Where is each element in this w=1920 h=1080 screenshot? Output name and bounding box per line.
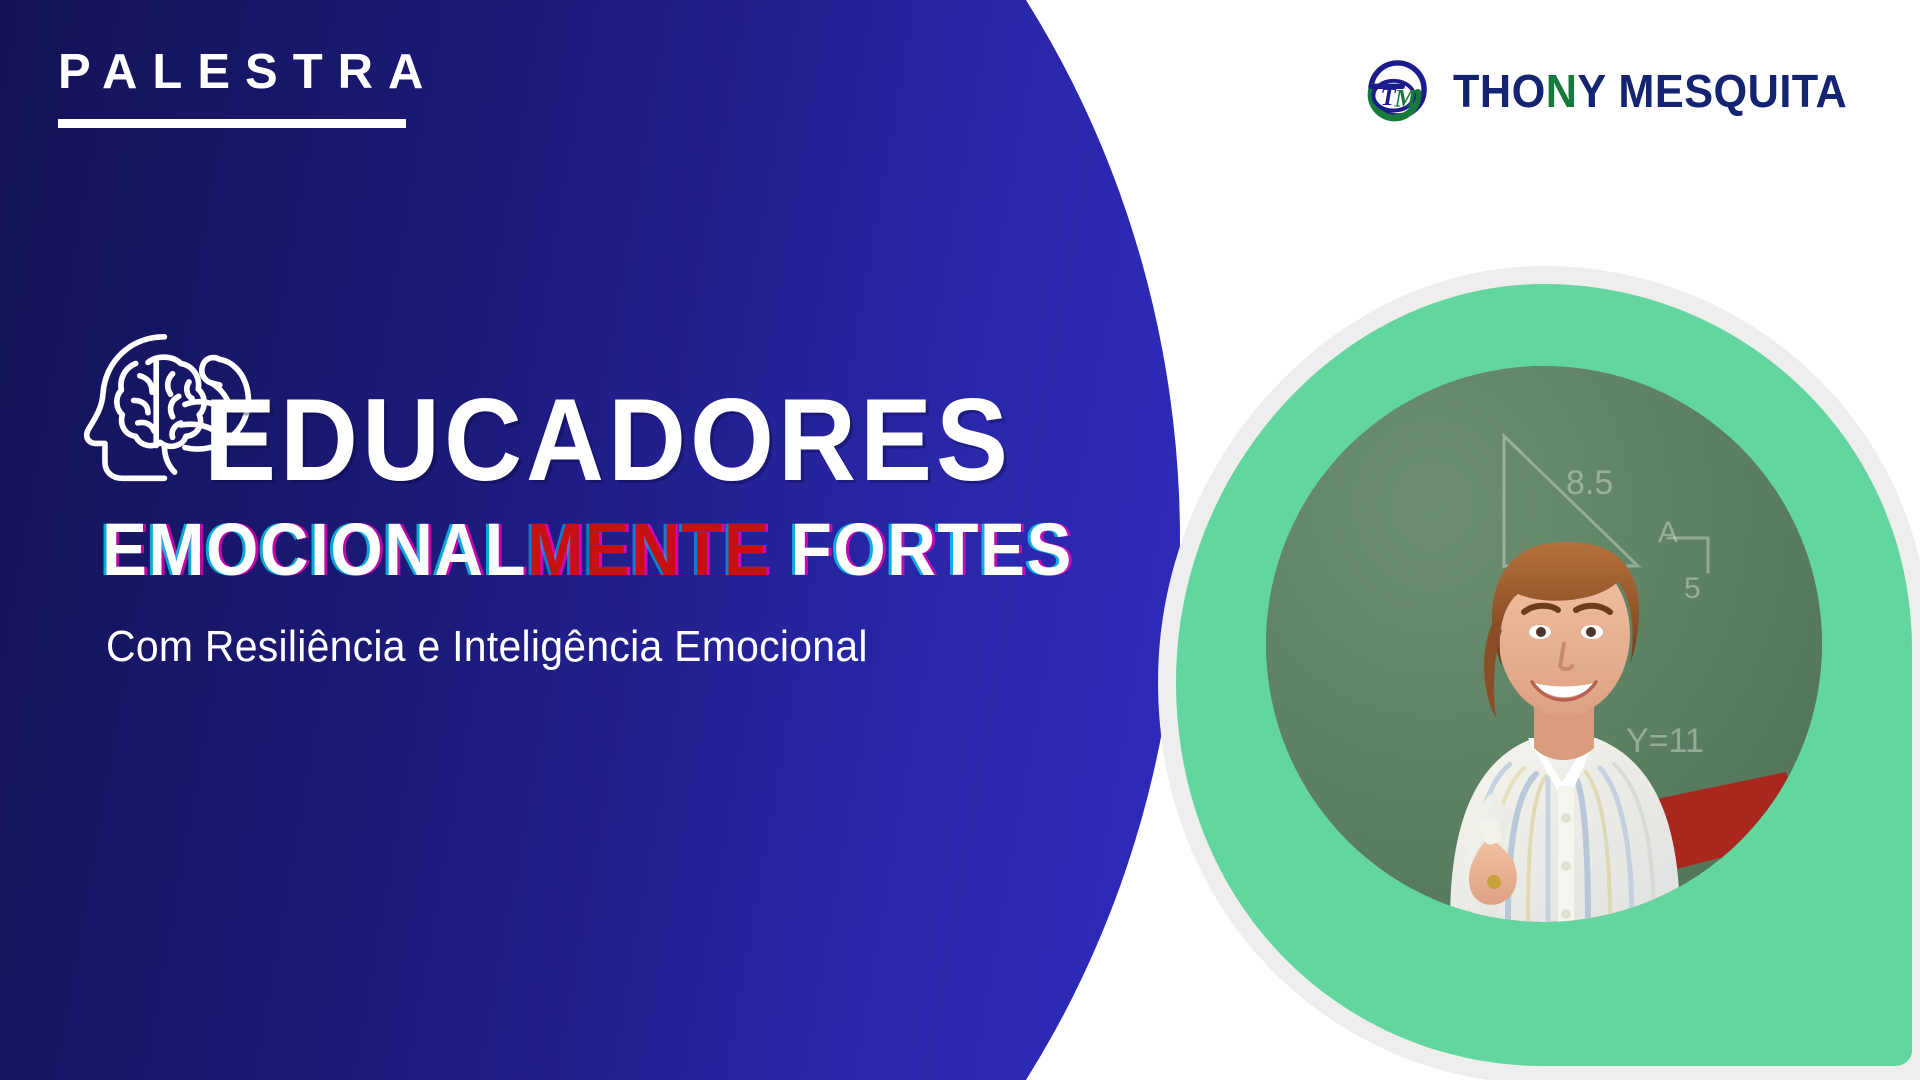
kicker-underline [58,119,406,128]
svg-text:Y=11: Y=11 [1626,722,1704,760]
svg-text:A: A [1658,516,1678,549]
kicker-block: PALESTRA [58,48,458,128]
svg-text:M: M [1393,86,1417,113]
brand-logo[interactable]: T M THONY MESQUITA [1357,52,1872,130]
headline-secondary-part3: FORTES [770,508,1072,591]
svg-text:8.5: 8.5 [1566,464,1613,502]
headline-secondary: EMOCIONALMENTE FORTES [102,512,975,586]
brand-name-suffix: Y MESQUITA [1577,65,1847,117]
svg-text:5: 5 [1684,572,1701,605]
portrait-illustration: 8.5 A 5 6 Y=11 =4 Y= [1266,366,1822,922]
portrait-photo: 8.5 A 5 6 Y=11 =4 Y= [1266,366,1822,922]
headline-block: EDUCADORES EMOCIONALMENTE FORTES Com Res… [58,380,958,672]
brand-name-accent: N [1545,65,1577,117]
headline-secondary-part1: EMOCIONAL [102,508,527,591]
kicker-label: PALESTRA [58,48,458,97]
title-row: EDUCADORES [58,380,958,496]
tm-monogram-icon: T M [1357,52,1435,130]
headline-secondary-accent: MENTE [527,508,770,591]
brand-name: THONY MESQUITA [1453,68,1847,114]
headline-primary: EDUCADORES [204,384,1012,496]
headline-tagline: Com Resiliência e Inteligência Emocional [106,622,898,672]
brand-name-prefix: THO [1453,65,1546,117]
portrait-group: 8.5 A 5 6 Y=11 =4 Y= [1140,258,1920,1080]
banner-canvas: PALESTRA T M THONY MESQUITA [0,0,1920,1080]
